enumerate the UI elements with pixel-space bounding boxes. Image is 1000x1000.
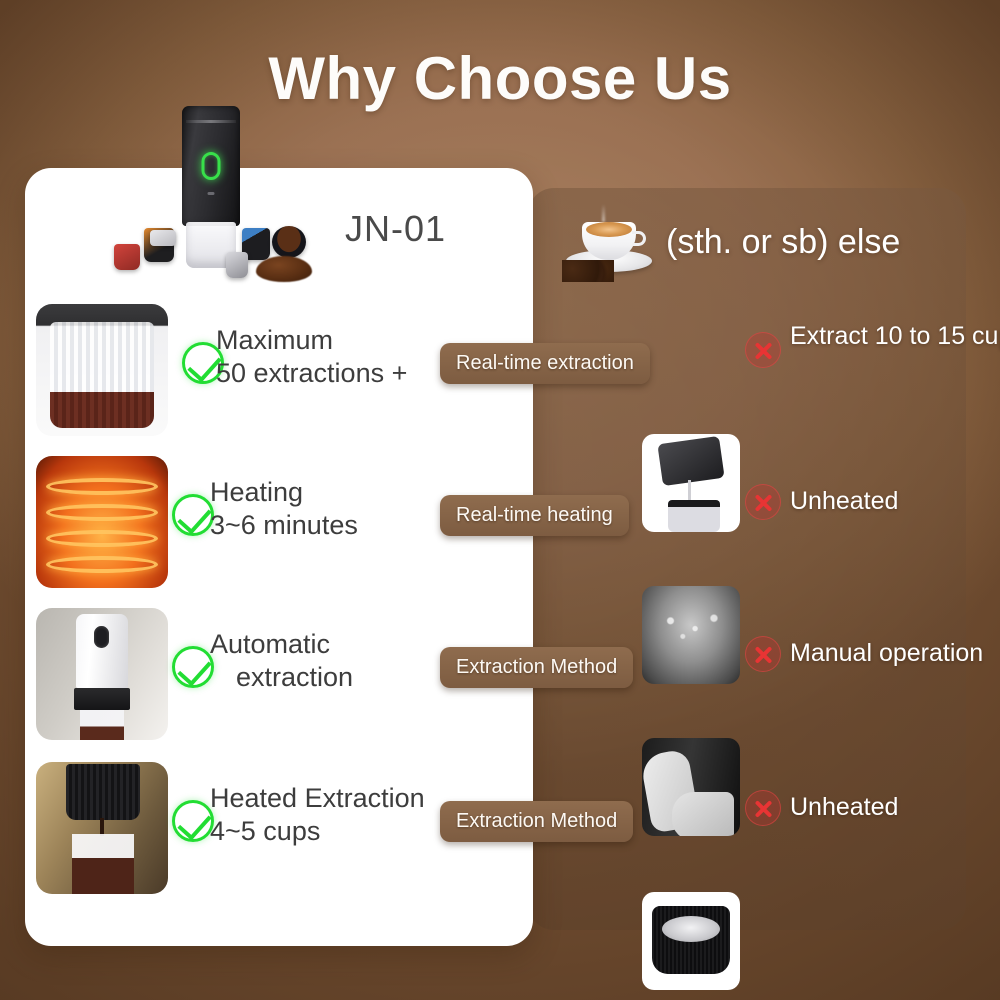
page-title: Why Choose Us (0, 44, 1000, 113)
con-feature-line1: Extract (790, 322, 868, 350)
pro-thumbnail-extraction (36, 304, 168, 436)
pro-feature-line2: extraction (210, 661, 353, 694)
espresso-machine-body (182, 106, 240, 226)
hero-product-image (110, 104, 316, 289)
category-pill: Real-time heating (440, 495, 629, 536)
con-feature-line1: Unheated (790, 793, 898, 821)
pro-feature-text: Heating 3~6 minutes (210, 476, 358, 543)
competitor-header: (sth. or sb) else (560, 198, 900, 286)
red-cross-circle-icon (745, 636, 781, 672)
heating-coil-icon (46, 478, 158, 495)
pro-feature-text: Automatic extraction (210, 628, 353, 695)
con-feature-text: Manual operation (790, 637, 983, 669)
heating-coil-icon (46, 556, 158, 573)
steam-icon (602, 204, 605, 222)
red-cross-circle-icon (745, 790, 781, 826)
brew-head-shape (66, 764, 140, 820)
capsule-silver (226, 252, 248, 278)
comparison-row: Maximum 50 extractions + Real-time extra… (0, 300, 1000, 452)
comparison-row: Automatic extraction Extraction Method M… (0, 604, 1000, 756)
coffee-liquid-shape (50, 392, 154, 428)
glass-cup-shape (80, 710, 124, 740)
coffee-cup-icon (560, 198, 660, 286)
category-pill: Extraction Method (440, 801, 633, 842)
green-check-circle-icon (172, 800, 214, 842)
comparison-row: Heated Extraction 4~5 cups Extraction Me… (0, 758, 1000, 910)
pro-feature-line1: Heating (210, 477, 303, 507)
pro-feature-line1: Heated Extraction (210, 783, 425, 813)
green-check-circle-icon (172, 494, 214, 536)
crema-shape (586, 222, 632, 237)
heating-coil-icon (46, 530, 158, 547)
con-feature-line2: 10 to 15 cups (875, 322, 1000, 350)
capsule-open (272, 226, 306, 258)
con-feature-line1: Manual operation (790, 639, 983, 667)
comparison-row: Heating 3~6 minutes Real-time heating Un… (0, 452, 1000, 604)
product-model-name: JN-01 (345, 208, 446, 250)
coffee-grounds-icon (256, 256, 312, 282)
red-cross-circle-icon (745, 484, 781, 520)
pro-thumbnail-heating (36, 456, 168, 588)
green-check-circle-icon (172, 646, 214, 688)
con-thumbnail-filter-basket (642, 892, 740, 990)
red-cross-circle-icon (745, 332, 781, 368)
category-pill: Extraction Method (440, 647, 633, 688)
con-feature-text: Unheated (790, 791, 898, 823)
display-window-icon (94, 626, 109, 648)
pro-thumbnail-automatic (36, 608, 168, 740)
filter-mesh-shape (662, 916, 720, 942)
con-feature-text: Unheated (790, 485, 898, 517)
coffee-beans-icon (562, 260, 614, 282)
pro-feature-text: Heated Extraction 4~5 cups (210, 782, 425, 849)
pro-feature-line1: Maximum (216, 325, 333, 355)
pro-feature-line2: 50 extractions + (216, 357, 407, 390)
con-feature-text: Extract 10 to 15 cups (790, 320, 1000, 352)
glass-cup-shape (72, 834, 134, 894)
infographic-canvas: Why Choose Us JN-01 (sth. or sb) else (0, 0, 1000, 1000)
pro-feature-text: Maximum 50 extractions + (216, 324, 407, 391)
capsule-red (114, 244, 140, 270)
category-pill: Real-time extraction (440, 343, 650, 384)
machine-band-shape (74, 688, 130, 710)
pro-thumbnail-brewing (36, 762, 168, 894)
heating-coil-icon (46, 504, 158, 521)
cup-handle-shape (632, 231, 646, 246)
pro-feature-line1: Automatic (210, 629, 330, 659)
capsule-black (150, 230, 176, 246)
competitor-header-label: (sth. or sb) else (666, 223, 900, 262)
led-display-icon (202, 152, 221, 180)
pro-feature-line2: 4~5 cups (210, 815, 425, 848)
pro-feature-line2: 3~6 minutes (210, 509, 358, 542)
con-feature-line1: Unheated (790, 487, 898, 515)
power-button-icon (208, 192, 215, 195)
